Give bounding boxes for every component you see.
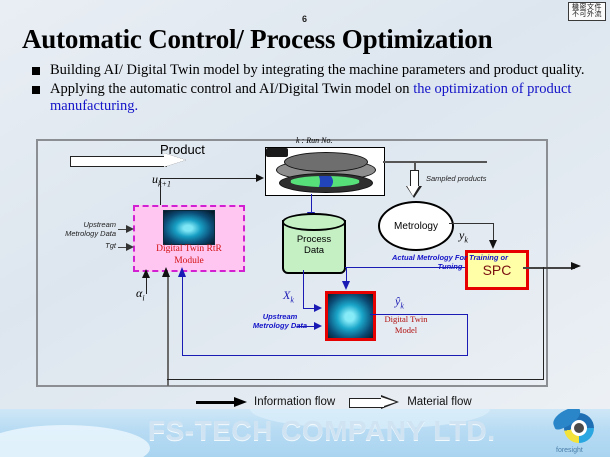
- yk-line-vertical: [493, 223, 494, 241]
- information-flow-icon: [196, 397, 248, 407]
- u-line-horizontal: [160, 178, 257, 179]
- yhat-label: ŷk: [395, 294, 404, 310]
- gray-feedback-arrowhead: [162, 267, 170, 277]
- upstream-metrology-label-bottom: UpstreamMetrology Data: [243, 312, 317, 330]
- alpha-label: αi: [136, 286, 145, 302]
- tgt-arrowhead: [126, 243, 134, 251]
- process-chamber-image: [265, 147, 385, 196]
- yhat-line-right: [370, 314, 468, 315]
- digital-twin-model-label: Digital TwinModel: [371, 314, 441, 335]
- rtr-module-label: Digital Twin RtRModule: [135, 244, 243, 268]
- spc-feedback-vertical: [543, 267, 544, 380]
- material-flow-label: Material flow: [407, 396, 472, 408]
- legend: Information flow Material flow: [196, 396, 472, 408]
- legend-arrowhead-fill: [381, 397, 396, 407]
- material-flow-arrow-product: [70, 154, 190, 167]
- information-flow-label: Information flow: [254, 396, 335, 408]
- yk-line-horizontal: [449, 223, 494, 224]
- yk-arrowhead: [489, 240, 497, 249]
- logo-core: [574, 423, 584, 433]
- legend-line: [196, 401, 236, 404]
- company-watermark: FS-TECH COMPANY LTD.: [148, 415, 496, 447]
- yhat-line-back: [182, 355, 468, 356]
- actual-metrology-line-h: [345, 267, 465, 268]
- control-input-label: uk+1: [152, 172, 171, 188]
- bullet-list: Building AI/ Digital Twin model by integ…: [32, 62, 598, 117]
- arrow-head-fill: [164, 153, 186, 167]
- slide-title: Automatic Control/ Process Optimization: [22, 24, 492, 55]
- spc-output-arrowhead: [571, 262, 581, 270]
- tgt-label: Tgt: [88, 241, 116, 250]
- upstream-arrowhead-bottom: [314, 322, 322, 330]
- legend-shaft: [349, 398, 384, 408]
- digital-twin-model-box: [325, 291, 376, 341]
- spc-feedback-horizontal: [167, 379, 544, 380]
- bullet-text-2-plain: Applying the automatic control and AI/Di…: [50, 81, 413, 97]
- blue-feedback-vertical: [182, 276, 183, 356]
- logo-name: foresight: [556, 447, 583, 454]
- confidential-stamp: 機密文件 不可外流: [568, 2, 606, 21]
- foresight-logo: foresight: [550, 409, 602, 453]
- alpha-line: [146, 276, 147, 294]
- yhat-line-down: [467, 314, 468, 356]
- u-arrowhead: [256, 174, 264, 182]
- arrow-shaft: [70, 156, 167, 167]
- yk-label: yk: [459, 228, 468, 244]
- xk-label: Xk: [283, 288, 294, 304]
- alpha-arrowhead: [142, 269, 150, 278]
- process-data-label: ProcessData: [284, 235, 344, 257]
- material-flow-arrow-sampled: [407, 170, 421, 198]
- bullet-text-1: Building AI/ Digital Twin model by integ…: [50, 62, 585, 79]
- material-flow-icon: [349, 396, 401, 408]
- list-item: Applying the automatic control and AI/Di…: [32, 81, 598, 115]
- bullet-text-2: Applying the automatic control and AI/Di…: [50, 81, 598, 115]
- chamber-to-data-line: [311, 194, 312, 214]
- slide-footer: FS-TECH COMPANY LTD. foresight: [0, 409, 610, 457]
- xk-arrowhead: [314, 304, 322, 312]
- run-number-label: k : Run No.: [296, 136, 332, 145]
- u-line-vertical: [160, 178, 161, 205]
- blue-feedback-arrowhead: [178, 267, 186, 277]
- page-number: 6: [302, 14, 307, 24]
- sampled-products-top-line: [383, 161, 487, 163]
- chamber-wafer: [290, 176, 360, 187]
- ai-head-icon: [163, 210, 215, 245]
- digital-twin-rtr-module: Digital Twin RtRModule: [133, 205, 245, 272]
- legend-arrowhead: [234, 397, 247, 407]
- metrology-node: Metrology: [378, 201, 454, 251]
- gray-feedback-vertical: [167, 276, 169, 386]
- chamber-platter-top: [284, 152, 368, 172]
- metrology-label: Metrology: [394, 221, 438, 232]
- list-item: Building AI/ Digital Twin model by integ…: [32, 62, 598, 79]
- process-data-store: ProcessData: [282, 220, 346, 274]
- arrow-head-fill: [407, 186, 419, 196]
- bullet-square-icon: [32, 86, 40, 94]
- chamber-hub: [266, 148, 288, 157]
- confidential-stamp-line2: 不可外流: [572, 11, 602, 18]
- actual-metrology-arrowhead: [342, 281, 350, 290]
- process-flow-diagram: Product k : Run No. uk+1 Digital Twin Rt…: [0, 128, 610, 396]
- sampled-products-label: Sampled products: [426, 174, 486, 183]
- upstream-arrowhead-top: [126, 225, 134, 233]
- xk-line-vertical: [303, 270, 304, 308]
- bullet-square-icon: [32, 67, 40, 75]
- actual-metrology-label: Actual Metrology For Training orTuning: [345, 253, 555, 271]
- upstream-metrology-label-top: UpstreamMetrology Data: [50, 220, 116, 238]
- cloud-decoration-1: [0, 425, 150, 457]
